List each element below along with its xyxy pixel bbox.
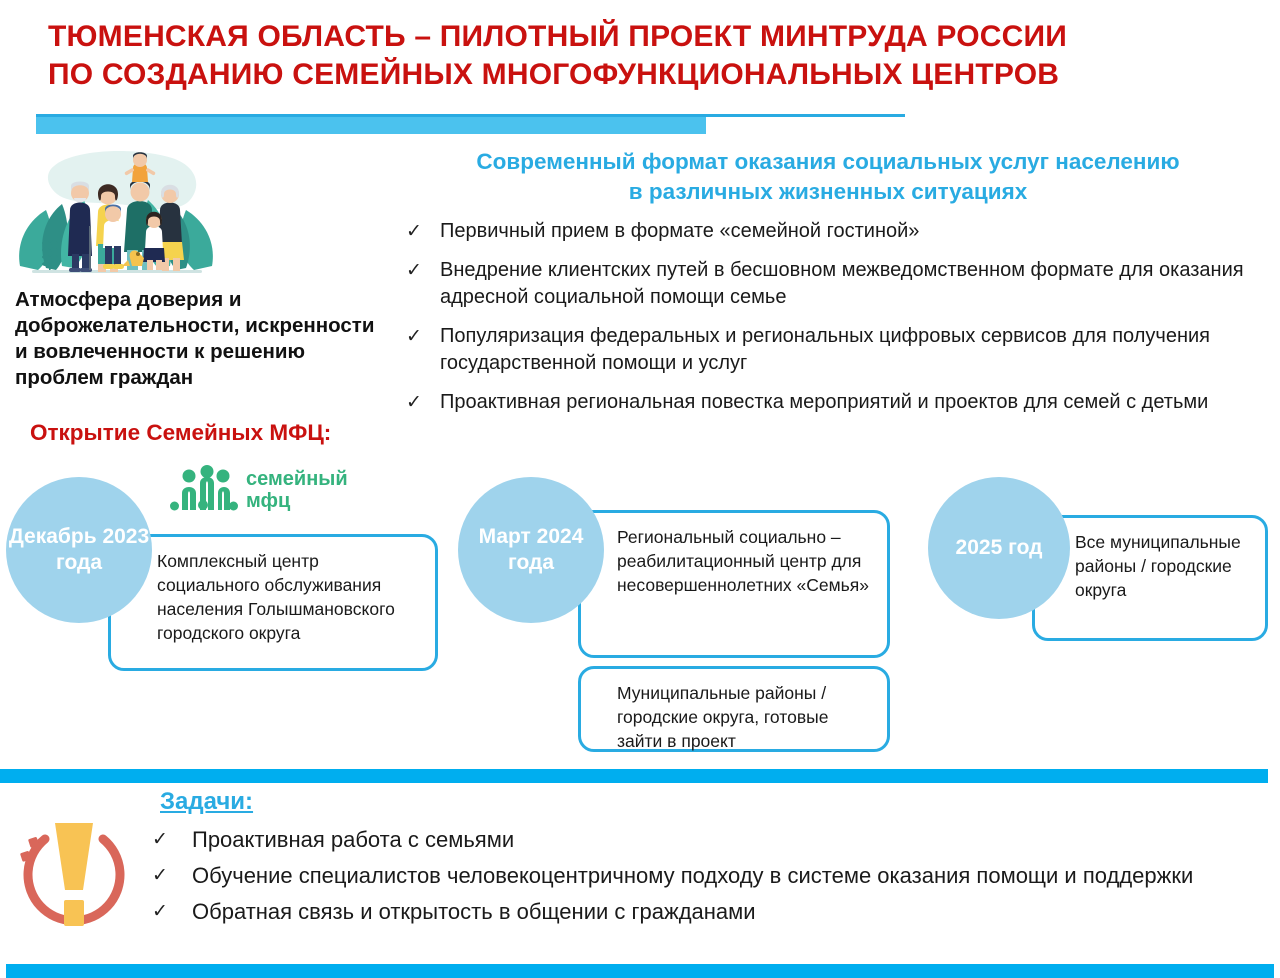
checkmark-icon: ✓ bbox=[152, 896, 192, 928]
list-item: ✓ Обратная связь и открытость в общении … bbox=[152, 896, 1262, 928]
opening-heading: Открытие Семейных МФЦ: bbox=[30, 420, 331, 446]
list-item: ✓ Проактивная региональная повестка меро… bbox=[404, 389, 1259, 416]
timeline-circle-march-2024: Март 2024 года bbox=[458, 477, 604, 623]
tasks-bottom-bar bbox=[6, 964, 1274, 978]
timeline-circle-december-2023: Декабрь 2023 года bbox=[6, 477, 152, 623]
title-line-2: ПО СОЗДАНИЮ СЕМЕЙНЫХ МНОГОФУНКЦИОНАЛЬНЫХ… bbox=[48, 56, 1238, 94]
tasks-heading: Задачи: bbox=[160, 788, 253, 816]
task-text: Обратная связь и открытость в общении с … bbox=[192, 896, 1262, 928]
checkmark-icon: ✓ bbox=[404, 389, 440, 416]
tasks-top-bar bbox=[0, 769, 1268, 783]
bullet-text: Первичный прием в формате «семейной гост… bbox=[440, 218, 1259, 245]
list-item: ✓ Внедрение клиентских путей в бесшовном… bbox=[404, 257, 1259, 311]
family-illustration bbox=[12, 148, 222, 288]
modern-format-heading-line-2: в различных жизненных ситуациях bbox=[398, 177, 1258, 207]
logo-wordmark-line-2: мфц bbox=[246, 490, 348, 512]
exclamation-alert-icon bbox=[14, 806, 134, 946]
checkmark-icon: ✓ bbox=[404, 323, 440, 350]
timeline-box-3: Муниципальные районы / городские округа,… bbox=[578, 666, 890, 752]
format-bullet-list: ✓ Первичный прием в формате «семейной го… bbox=[404, 218, 1259, 428]
slide-title: ТЮМЕНСКАЯ ОБЛАСТЬ – ПИЛОТНЫЙ ПРОЕКТ МИНТ… bbox=[48, 18, 1238, 94]
timeline-box-2: Региональный социально – реабилитационны… bbox=[578, 510, 890, 658]
checkmark-icon: ✓ bbox=[404, 257, 440, 284]
timeline-circle-2025: 2025 год bbox=[928, 477, 1070, 619]
checkmark-icon: ✓ bbox=[152, 824, 192, 856]
bullet-text: Популяризация федеральных и региональных… bbox=[440, 323, 1259, 377]
title-line-1: ТЮМЕНСКАЯ ОБЛАСТЬ – ПИЛОТНЫЙ ПРОЕКТ МИНТ… bbox=[48, 18, 1238, 56]
timeline-box-1: Комплексный центр социального обслуживан… bbox=[108, 534, 438, 671]
logo-wordmark-line-1: семейный bbox=[246, 468, 348, 490]
bullet-text: Внедрение клиентских путей в бесшовном м… bbox=[440, 257, 1259, 311]
list-item: ✓ Популяризация федеральных и региональн… bbox=[404, 323, 1259, 377]
slide-root: ТЮМЕНСКАЯ ОБЛАСТЬ – ПИЛОТНЫЙ ПРОЕКТ МИНТ… bbox=[0, 0, 1280, 978]
list-item: ✓ Обучение специалистов человекоцентричн… bbox=[152, 860, 1262, 892]
list-item: ✓ Первичный прием в формате «семейной го… bbox=[404, 218, 1259, 245]
modern-format-heading: Современный формат оказания социальных у… bbox=[398, 147, 1258, 207]
trust-atmosphere-caption: Атмосфера доверия и доброжелательности, … bbox=[15, 287, 385, 391]
bullet-text: Проактивная региональная повестка меропр… bbox=[440, 389, 1259, 416]
modern-format-heading-line-1: Современный формат оказания социальных у… bbox=[398, 147, 1258, 177]
list-item: ✓ Проактивная работа с семьями bbox=[152, 824, 1262, 856]
task-text: Проактивная работа с семьями bbox=[192, 824, 1262, 856]
header-accent-bar bbox=[36, 117, 706, 134]
logo-wordmark: семейный мфц bbox=[246, 468, 348, 512]
semeyny-mfc-logo: семейный мфц bbox=[170, 460, 340, 520]
checkmark-icon: ✓ bbox=[152, 860, 192, 892]
family-pictogram-icon bbox=[170, 465, 238, 515]
tasks-list: ✓ Проактивная работа с семьями ✓ Обучени… bbox=[152, 824, 1262, 932]
checkmark-icon: ✓ bbox=[404, 218, 440, 245]
task-text: Обучение специалистов человекоцентричном… bbox=[192, 860, 1262, 892]
